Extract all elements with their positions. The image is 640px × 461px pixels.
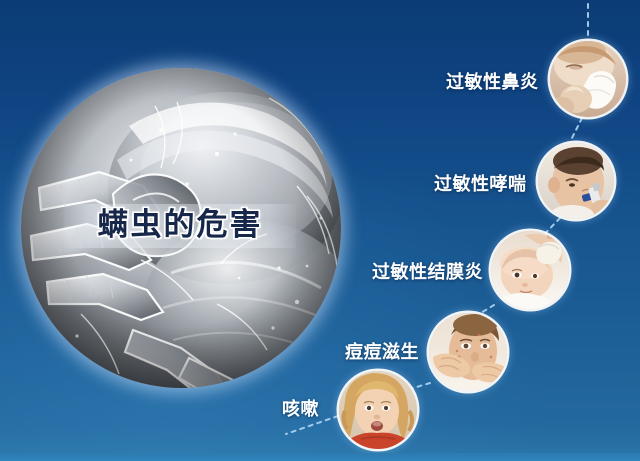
symptom-circle-asthma[interactable] [538, 143, 614, 219]
symptom-circle-conjunctivitis[interactable] [491, 231, 569, 309]
bottom-accent-strip [0, 453, 640, 461]
coughing-child-photo [339, 371, 417, 449]
infographic-poster: 螨虫的危害 过敏性鼻炎 [0, 0, 640, 461]
symptom-circle-acne[interactable] [429, 313, 507, 391]
connector-1-2 [570, 118, 582, 142]
page-title: 螨虫的危害 [64, 203, 296, 247]
baby-eye-wipe-photo [491, 231, 569, 309]
symptom-label-cough: 咳嗽 [282, 395, 319, 421]
symptom-label-acne: 痘痘滋生 [345, 338, 419, 364]
symptom-label-rhinitis: 过敏性鼻炎 [446, 68, 539, 94]
symptom-label-conjunctivitis: 过敏性结膜炎 [372, 258, 483, 284]
man-with-inhaler-photo [538, 143, 614, 219]
symptom-circle-rhinitis[interactable] [550, 41, 626, 117]
symptom-label-asthma: 过敏性哮喘 [434, 170, 527, 196]
woman-acne-face-photo [429, 313, 507, 391]
symptom-circle-cough[interactable] [339, 371, 417, 449]
woman-with-tissue-photo [550, 41, 626, 117]
